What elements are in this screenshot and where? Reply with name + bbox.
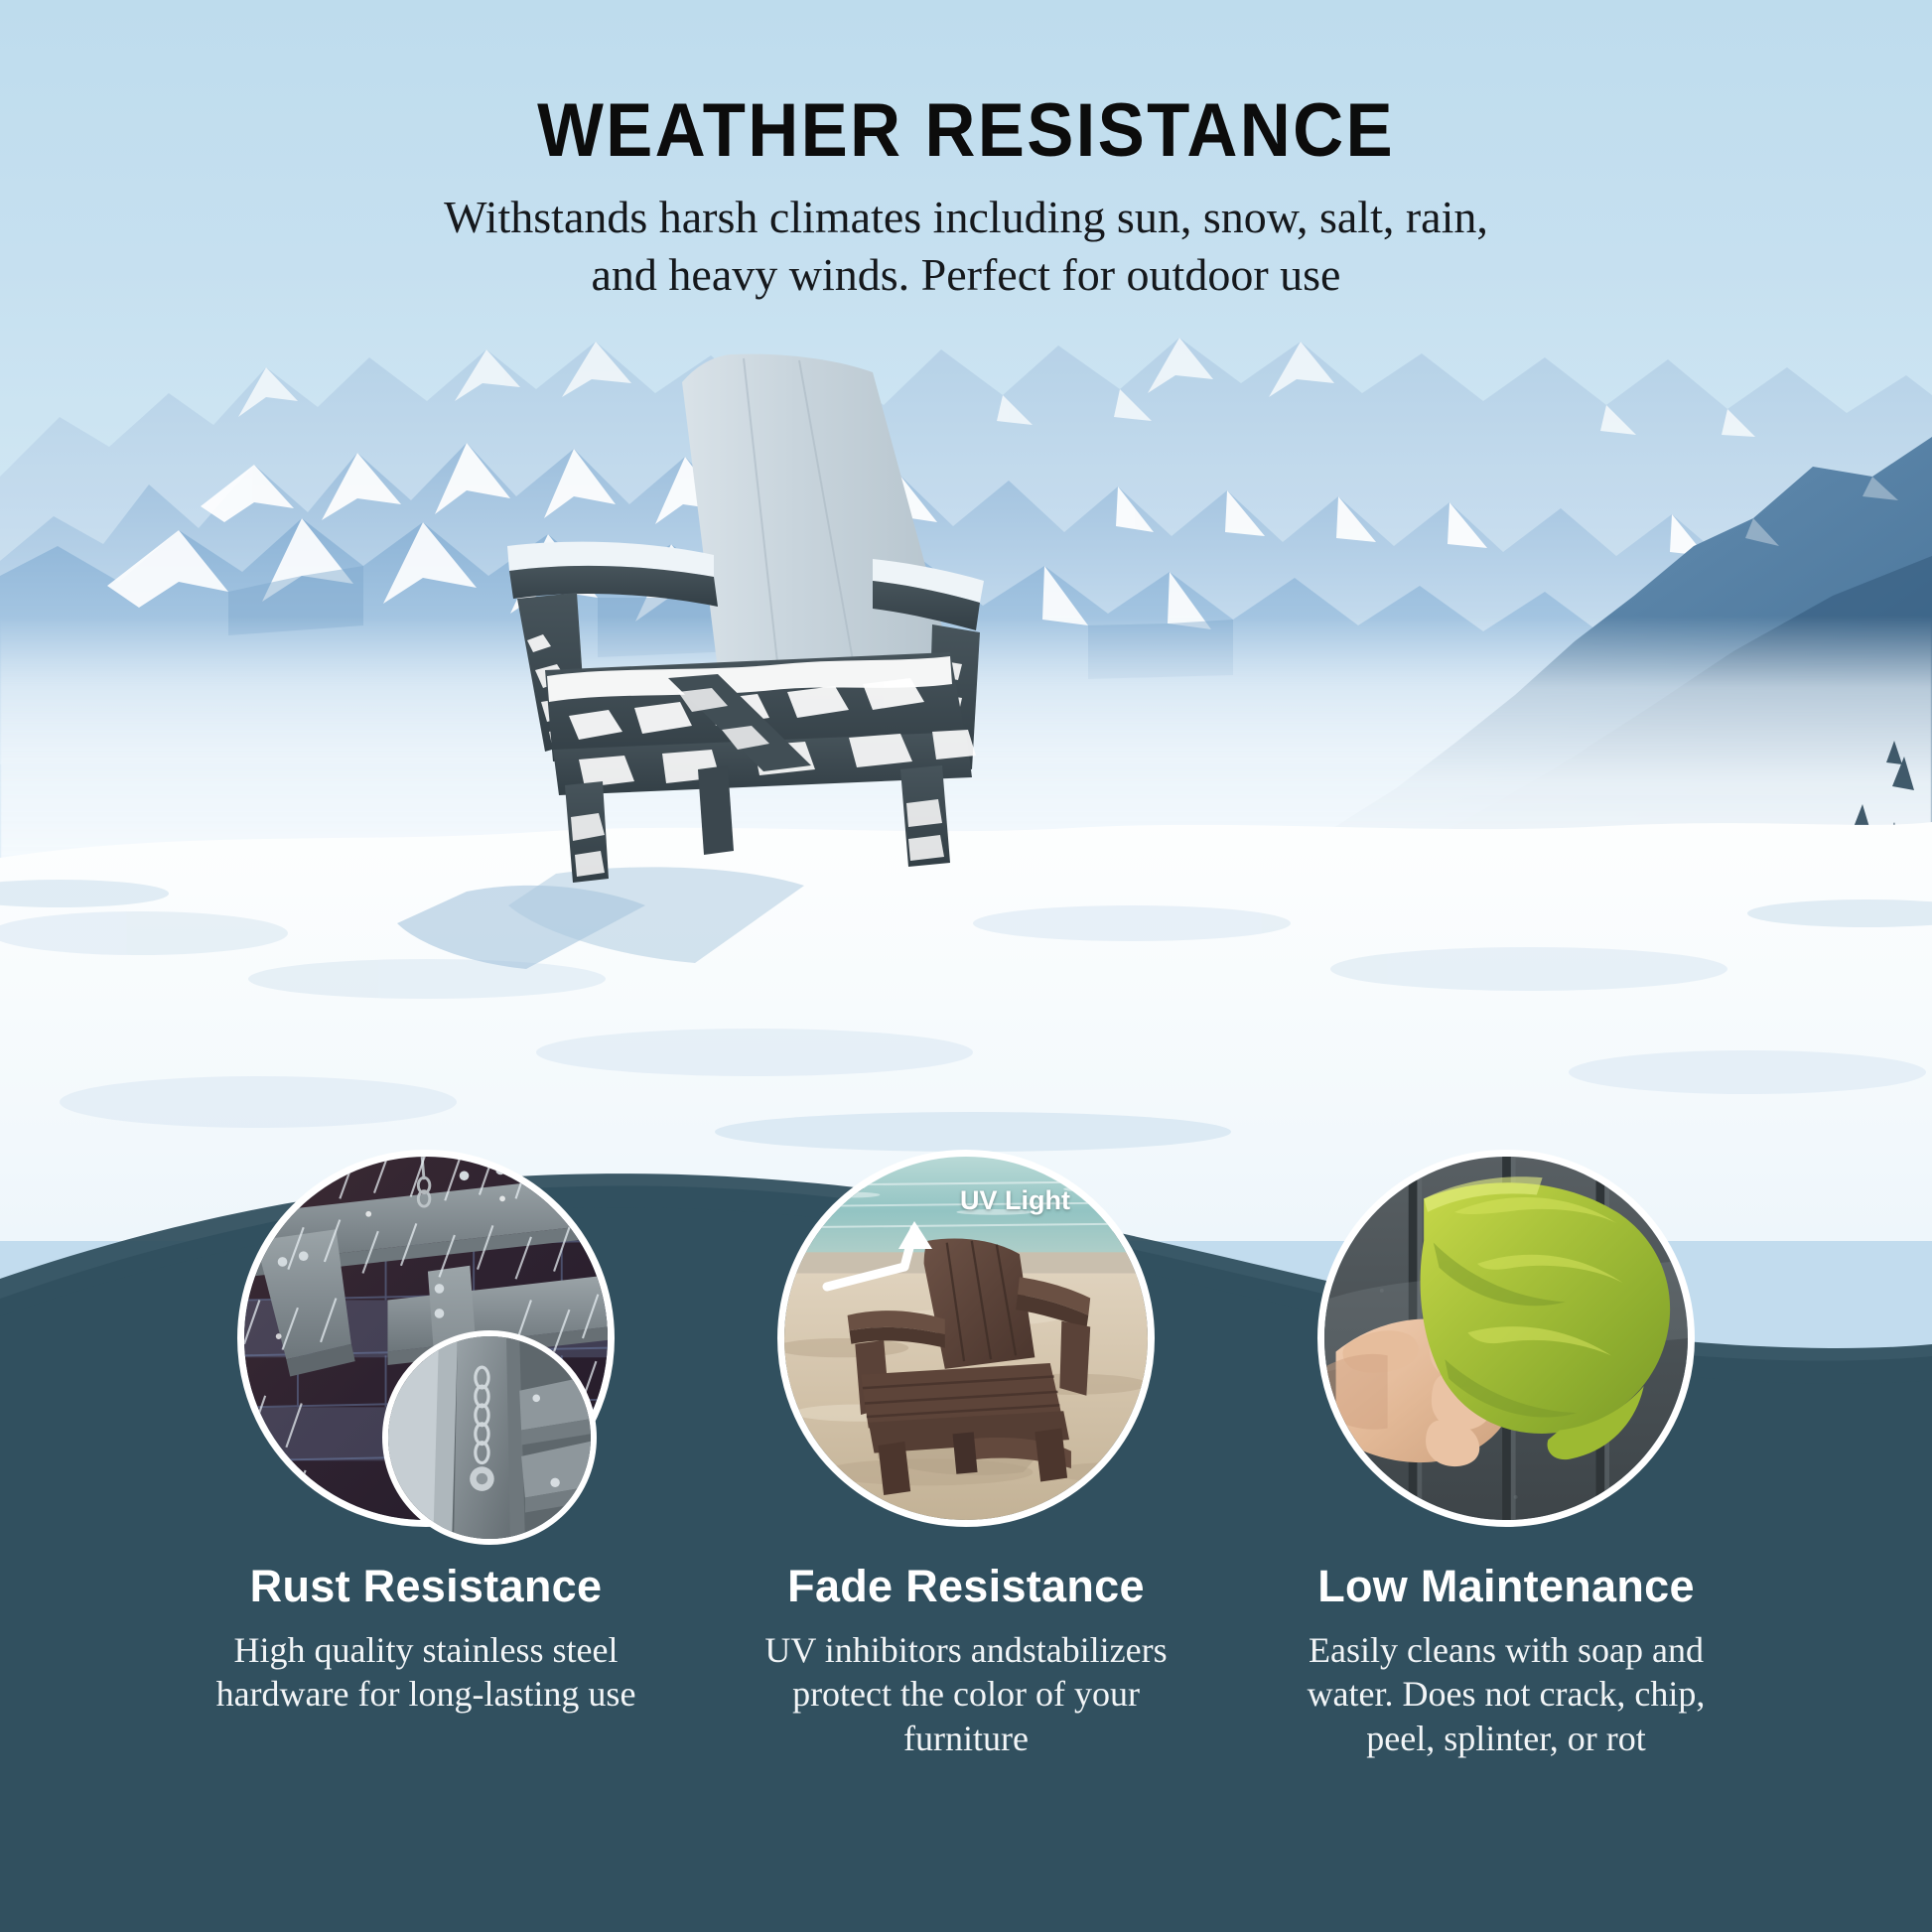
- feature-title: Low Maintenance: [1228, 1561, 1784, 1612]
- feature-title: Rust Resistance: [148, 1561, 704, 1612]
- feature-description: Easily cleans with soap and water. Does …: [1228, 1628, 1784, 1760]
- subtitle-line-2: and heavy winds. Perfect for outdoor use: [0, 246, 1932, 304]
- uv-light-annotation: UV Light: [960, 1185, 1070, 1216]
- stainless-steel-hardware-closeup: [382, 1330, 597, 1545]
- low-maintenance-image-group: [1317, 1150, 1695, 1527]
- feature-title: Fade Resistance: [688, 1561, 1244, 1612]
- feature-card-fade-resistance: UV Light Fade Resistance UV inhibitors a…: [688, 1150, 1244, 1760]
- hand-wiping-with-green-microfiber-cloth-photo: [1317, 1150, 1695, 1527]
- feature-description: UV inhibitors andstabilizers protect the…: [688, 1628, 1244, 1760]
- page-subtitle: Withstands harsh climates including sun,…: [0, 189, 1932, 304]
- fade-resistance-image-group: UV Light: [777, 1150, 1155, 1527]
- feature-card-low-maintenance: Low Maintenance Easily cleans with soap …: [1228, 1150, 1784, 1760]
- rust-resistance-image-group: [237, 1150, 615, 1527]
- subtitle-line-1: Withstands harsh climates including sun,…: [0, 189, 1932, 246]
- feature-description: High quality stainless steel hardware fo…: [148, 1628, 704, 1717]
- feature-card-list: Rust Resistance High quality stainless s…: [0, 1150, 1932, 1932]
- feature-card-rust-resistance: Rust Resistance High quality stainless s…: [148, 1150, 704, 1717]
- page-title: WEATHER RESISTANCE: [68, 87, 1864, 174]
- adirondack-chair-with-snow: [483, 343, 1020, 898]
- uv-light-arrow-icon: [821, 1215, 950, 1301]
